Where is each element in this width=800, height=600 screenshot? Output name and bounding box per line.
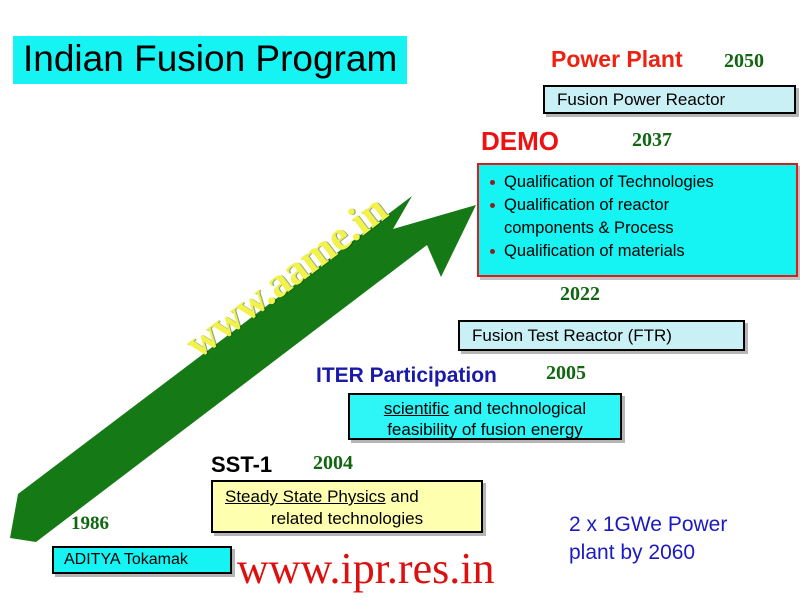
stage-label-demo: DEMO xyxy=(481,126,559,157)
box-aditya-tokamak: ADITYA Tokamak xyxy=(52,546,232,574)
box-iter-scope: scientific and technological feasibility… xyxy=(348,393,622,440)
stage-label-sst-1: SST-1 xyxy=(211,452,272,478)
box-fusion-power-reactor: Fusion Power Reactor xyxy=(543,85,796,114)
year-1986: 1986 xyxy=(71,513,109,535)
goal-line-2: plant by 2060 xyxy=(569,541,695,564)
year-2050: 2050 xyxy=(724,50,764,73)
page-title: Indian Fusion Program xyxy=(13,36,407,84)
sst1-line2: related technologies xyxy=(213,508,481,530)
slide-canvas: Indian Fusion Program www.aame.in Power … xyxy=(0,0,800,600)
ipr-watermark: www.ipr.res.in xyxy=(237,546,494,592)
box-fusion-test-reactor: Fusion Test Reactor (FTR) xyxy=(458,320,745,351)
sst1-underlined-term: Steady State Physics xyxy=(225,487,386,506)
stage-label-power-plant: Power Plant xyxy=(551,46,683,73)
iter-underlined-term: scientific xyxy=(384,399,449,418)
sst1-line1-rest: and xyxy=(386,487,419,506)
year-2004: 2004 xyxy=(313,452,353,475)
power-plant-goal-note: 2 x 1GWe Power plant by 2060 xyxy=(569,511,727,567)
year-2005: 2005 xyxy=(546,362,586,385)
aame-watermark: www.aame.in xyxy=(176,185,397,368)
goal-line-1: 2 x 1GWe Power xyxy=(569,513,727,536)
list-item: Qualification of materials xyxy=(487,240,792,263)
demo-bullet-list: Qualification of Technologies Qualificat… xyxy=(487,171,792,263)
list-item: Qualification of Technologies xyxy=(487,171,792,194)
year-2037: 2037 xyxy=(632,129,672,152)
box-demo-objectives: Qualification of Technologies Qualificat… xyxy=(477,163,798,277)
iter-line1-rest: and technological xyxy=(449,399,586,418)
sst1-line1: Steady State Physics and xyxy=(213,486,481,508)
stage-label-iter-participation: ITER Participation xyxy=(316,364,497,388)
list-item: Qualification of reactor xyxy=(487,194,792,217)
year-2022: 2022 xyxy=(560,283,600,306)
iter-line2: feasibility of fusion energy xyxy=(387,420,583,439)
box-sst-1-scope: Steady State Physics and related technol… xyxy=(211,480,483,533)
list-item: components & Process xyxy=(487,217,792,240)
